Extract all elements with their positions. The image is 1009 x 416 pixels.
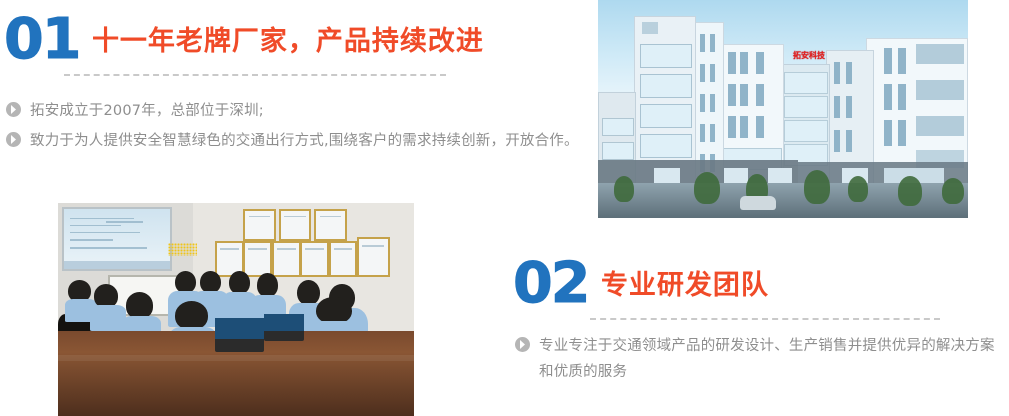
section-02-divider	[590, 318, 940, 320]
section-01-bullet-2-text: 致力于为人提供安全智慧绿色的交通出行方式,围绕客户的需求持续创新，开放合作。	[30, 128, 579, 154]
section-01-bullet-2: 致力于为人提供安全智慧绿色的交通出行方式,围绕客户的需求持续创新，开放合作。	[6, 128, 586, 154]
chevron-right-circle-icon	[515, 337, 530, 352]
section-02-number: 02	[513, 258, 588, 310]
section-01-bullet-1: 拓安成立于2007年，总部位于深圳;	[6, 98, 566, 124]
person-near-2	[90, 284, 126, 331]
section-02-bullet-1: 专业专注于交通领域产品的研发设计、生产销售并提供优异的解决方案和优质的服务	[515, 333, 1009, 385]
section-01-divider	[64, 74, 446, 76]
promo-banner: 01 十一年老牌厂家，产品持续改进 拓安成立于2007年，总部位于深圳; 致力于…	[0, 0, 1009, 416]
rooftop-company-sign: 拓安科技	[793, 50, 825, 61]
section-01-number: 01	[4, 14, 79, 66]
chevron-right-circle-icon	[6, 132, 21, 147]
section-02-heading: 02 专业研发团队	[513, 258, 769, 310]
laptop-2	[264, 314, 303, 342]
decor-dot-pattern	[168, 243, 196, 256]
rd-team-meeting-photo	[58, 203, 414, 416]
section-01-bullet-1-text: 拓安成立于2007年，总部位于深圳;	[30, 98, 264, 124]
section-02-title: 专业研发团队	[601, 269, 769, 303]
laptop-1	[215, 318, 265, 352]
section-01-heading: 01 十一年老牌厂家，产品持续改进	[4, 14, 484, 66]
section-01-title: 十一年老牌厂家，产品持续改进	[92, 25, 484, 59]
chevron-right-circle-icon	[6, 102, 21, 117]
projection-screen	[62, 207, 173, 271]
section-02-bullet-1-text: 专业专注于交通领域产品的研发设计、生产销售并提供优异的解决方案和优质的服务	[539, 333, 999, 385]
parked-car	[740, 196, 776, 210]
company-building-photo: 拓安科技	[598, 0, 968, 218]
